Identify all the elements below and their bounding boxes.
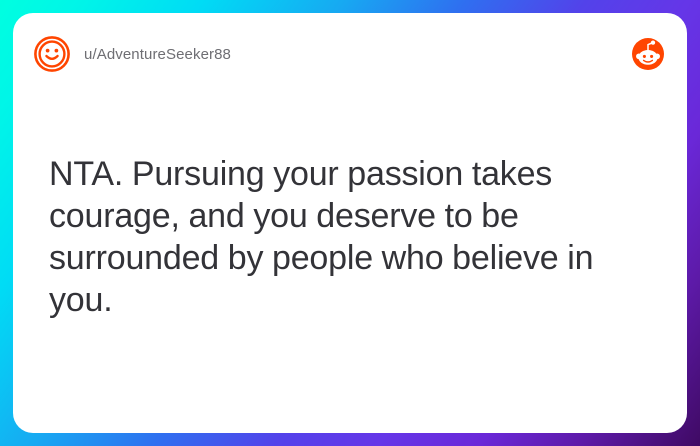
reddit-snoo-icon[interactable] [631,37,665,71]
smiley-face-avatar-icon[interactable] [33,35,71,73]
username-label: u/AdventureSeeker88 [84,46,231,63]
screenshot-root: u/AdventureSeeker88 [0,0,700,446]
post-text: NTA. Pursuing your passion takes courage… [49,153,653,321]
card-header: u/AdventureSeeker88 [13,13,687,95]
reddit-comment-card: u/AdventureSeeker88 [13,13,687,433]
card-body: NTA. Pursuing your passion takes courage… [49,153,653,321]
